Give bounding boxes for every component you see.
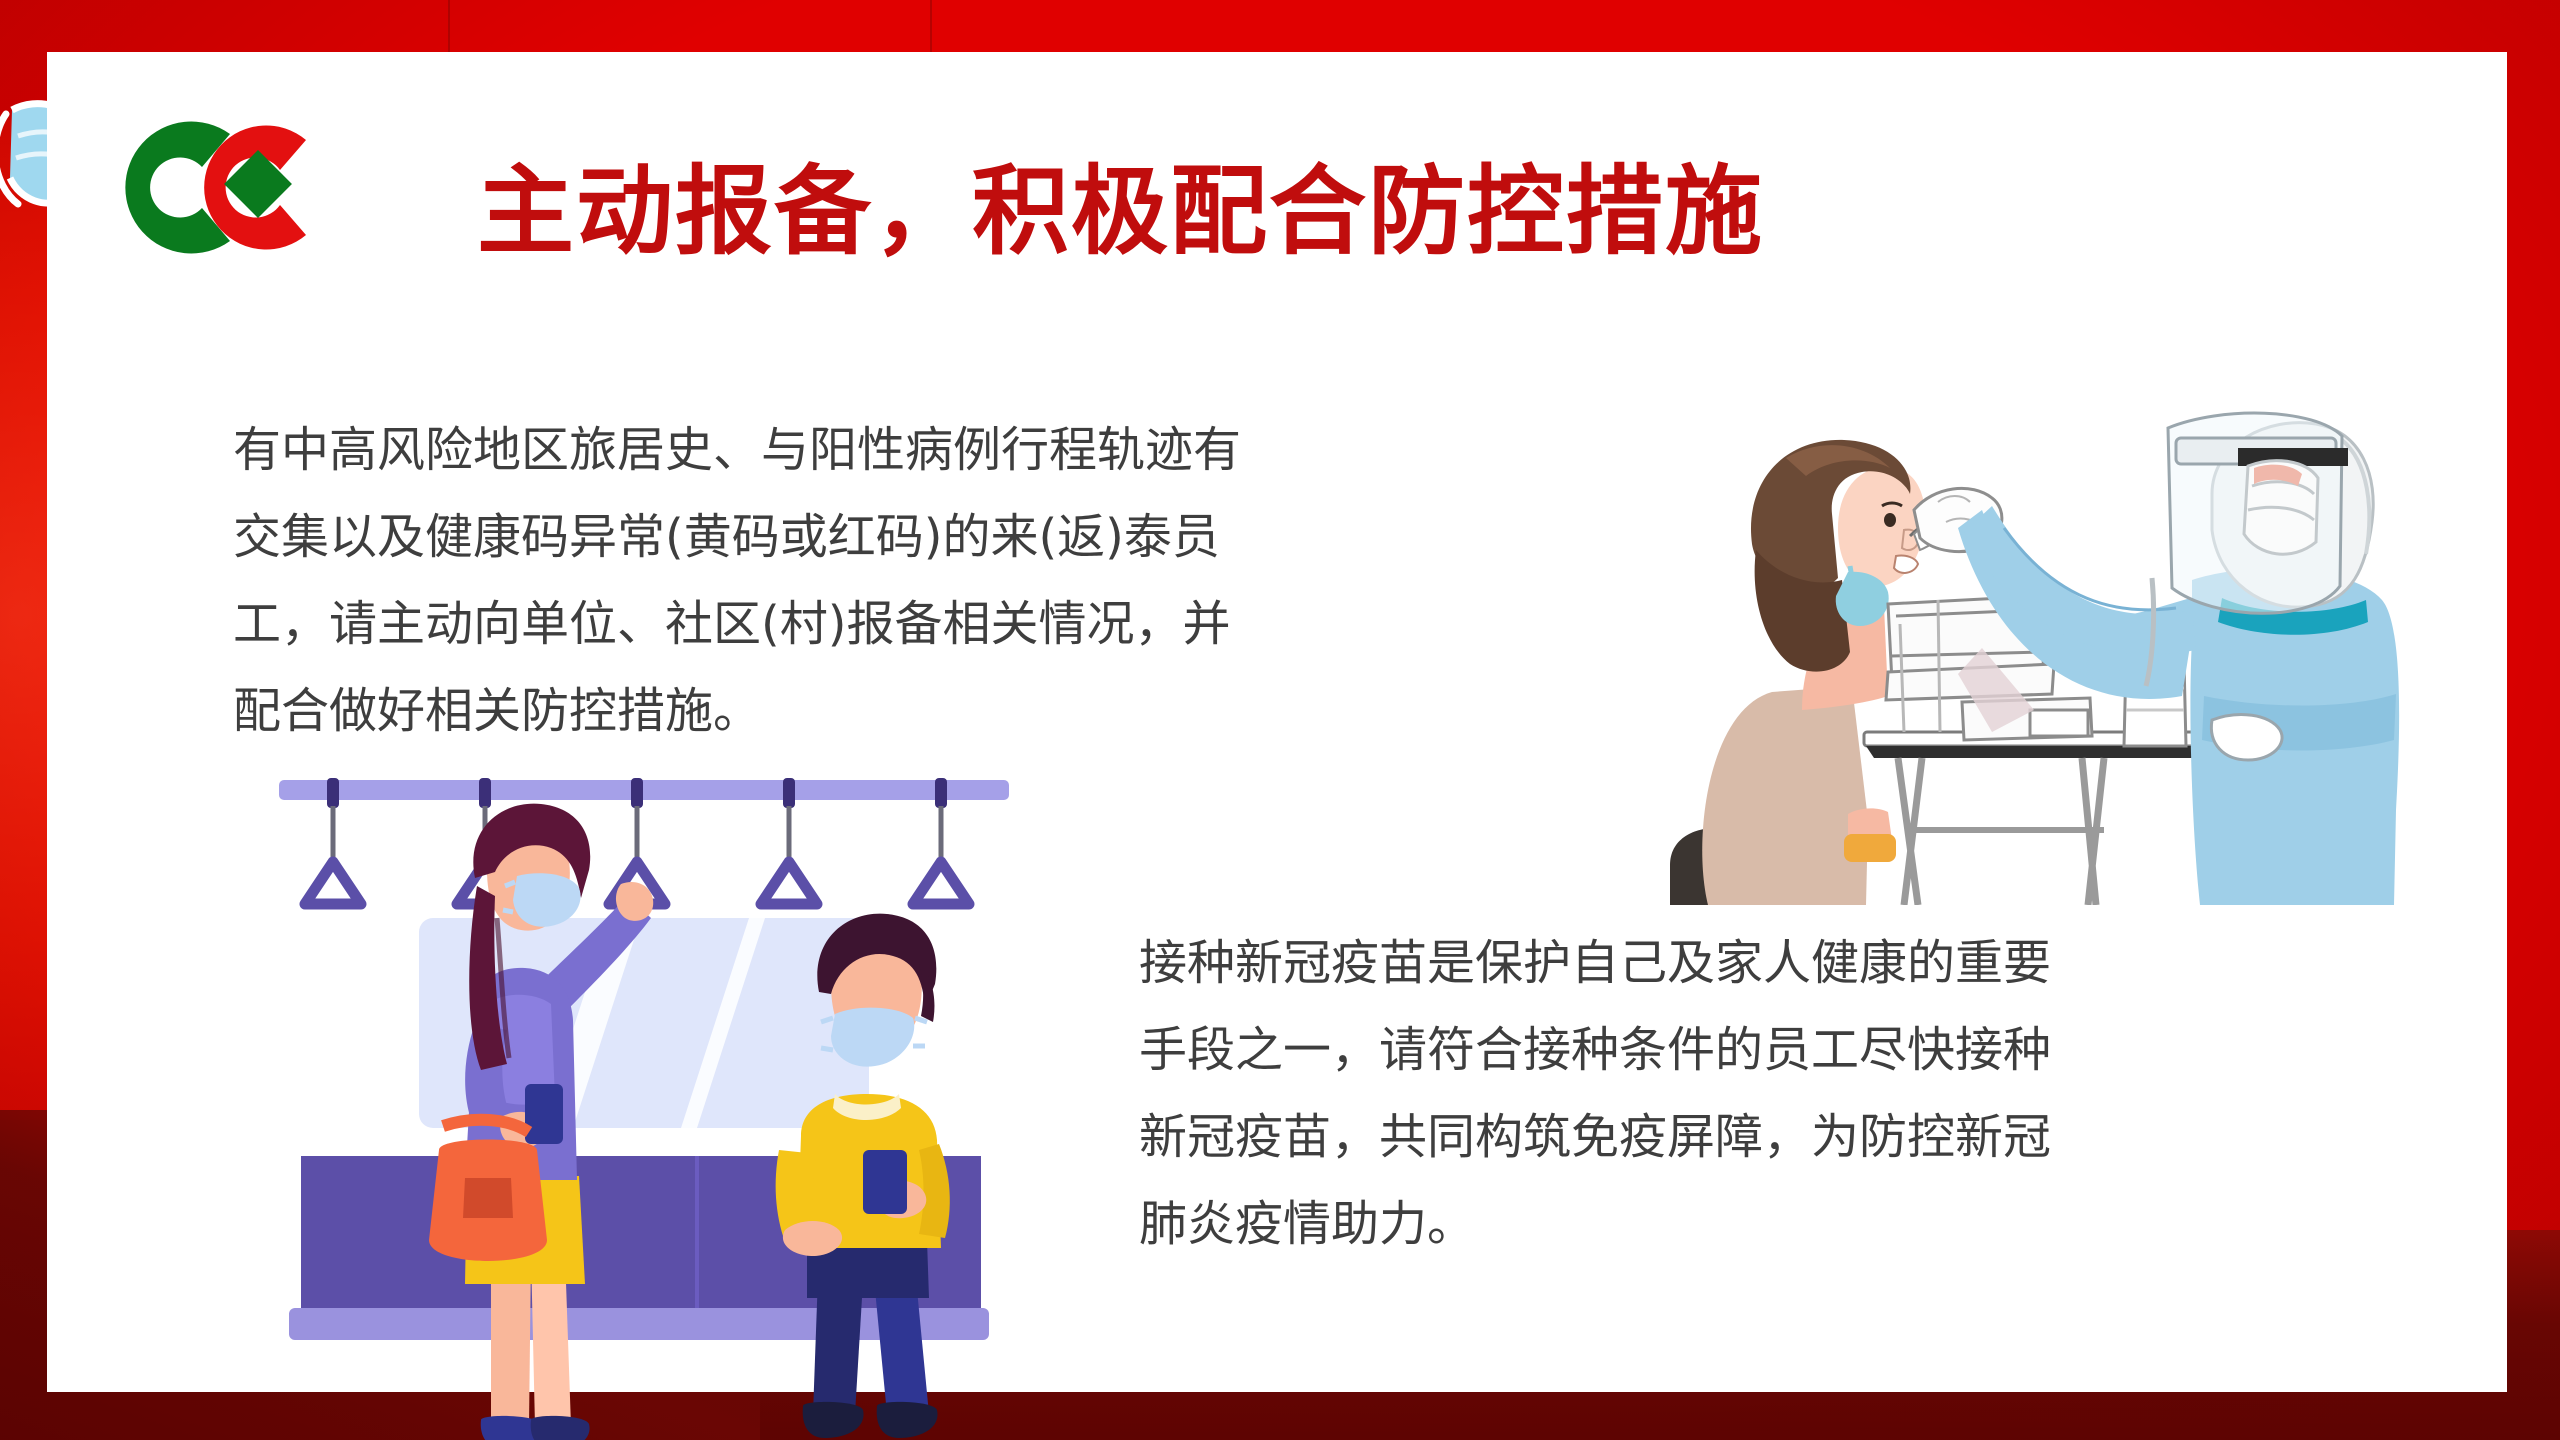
paragraph-report-proactively: 有中高风险地区旅居史、与阳性病例行程轨迹有 交集以及健康码异常(黄码或红码)的来… bbox=[233, 407, 1633, 755]
paragraph-1-line-3: 工，请主动向单位、社区(村)报备相关情况，并 bbox=[233, 581, 1633, 668]
nucleic-acid-test-illustration bbox=[1652, 410, 2412, 905]
cc-logo bbox=[102, 100, 342, 275]
public-transit-illustration bbox=[279, 778, 1009, 1440]
paragraph-2-line-3: 新冠疫苗，共同构筑免疫屏障，为防控新冠 bbox=[1139, 1094, 2449, 1181]
page-title: 主动报备，积极配合防控措施 bbox=[477, 160, 2177, 270]
paragraph-2-line-1: 接种新冠疫苗是保护自己及家人健康的重要 bbox=[1139, 920, 2449, 1007]
handrail-bar bbox=[279, 780, 1009, 800]
paragraph-2-line-4: 肺炎疫情助力。 bbox=[1139, 1181, 2449, 1268]
paragraph-1-line-2: 交集以及健康码异常(黄码或红码)的来(返)泰员 bbox=[233, 494, 1633, 581]
content-card: 主动报备，积极配合防控措施 有中高风险地区旅居史、与阳性病例行程轨迹有 交集以及… bbox=[47, 52, 2507, 1392]
paragraph-1-line-4: 配合做好相关防控措施。 bbox=[233, 668, 1633, 755]
paragraph-vaccination: 接种新冠疫苗是保护自己及家人健康的重要 手段之一，请符合接种条件的员工尽快接种 … bbox=[1139, 920, 2449, 1268]
poster-canvas: 主动报备，积极配合防控措施 有中高风险地区旅居史、与阳性病例行程轨迹有 交集以及… bbox=[0, 0, 2560, 1440]
paragraph-1-line-1: 有中高风险地区旅居史、与阳性病例行程轨迹有 bbox=[233, 407, 1633, 494]
paragraph-2-line-2: 手段之一，请符合接种条件的员工尽快接种 bbox=[1139, 1007, 2449, 1094]
